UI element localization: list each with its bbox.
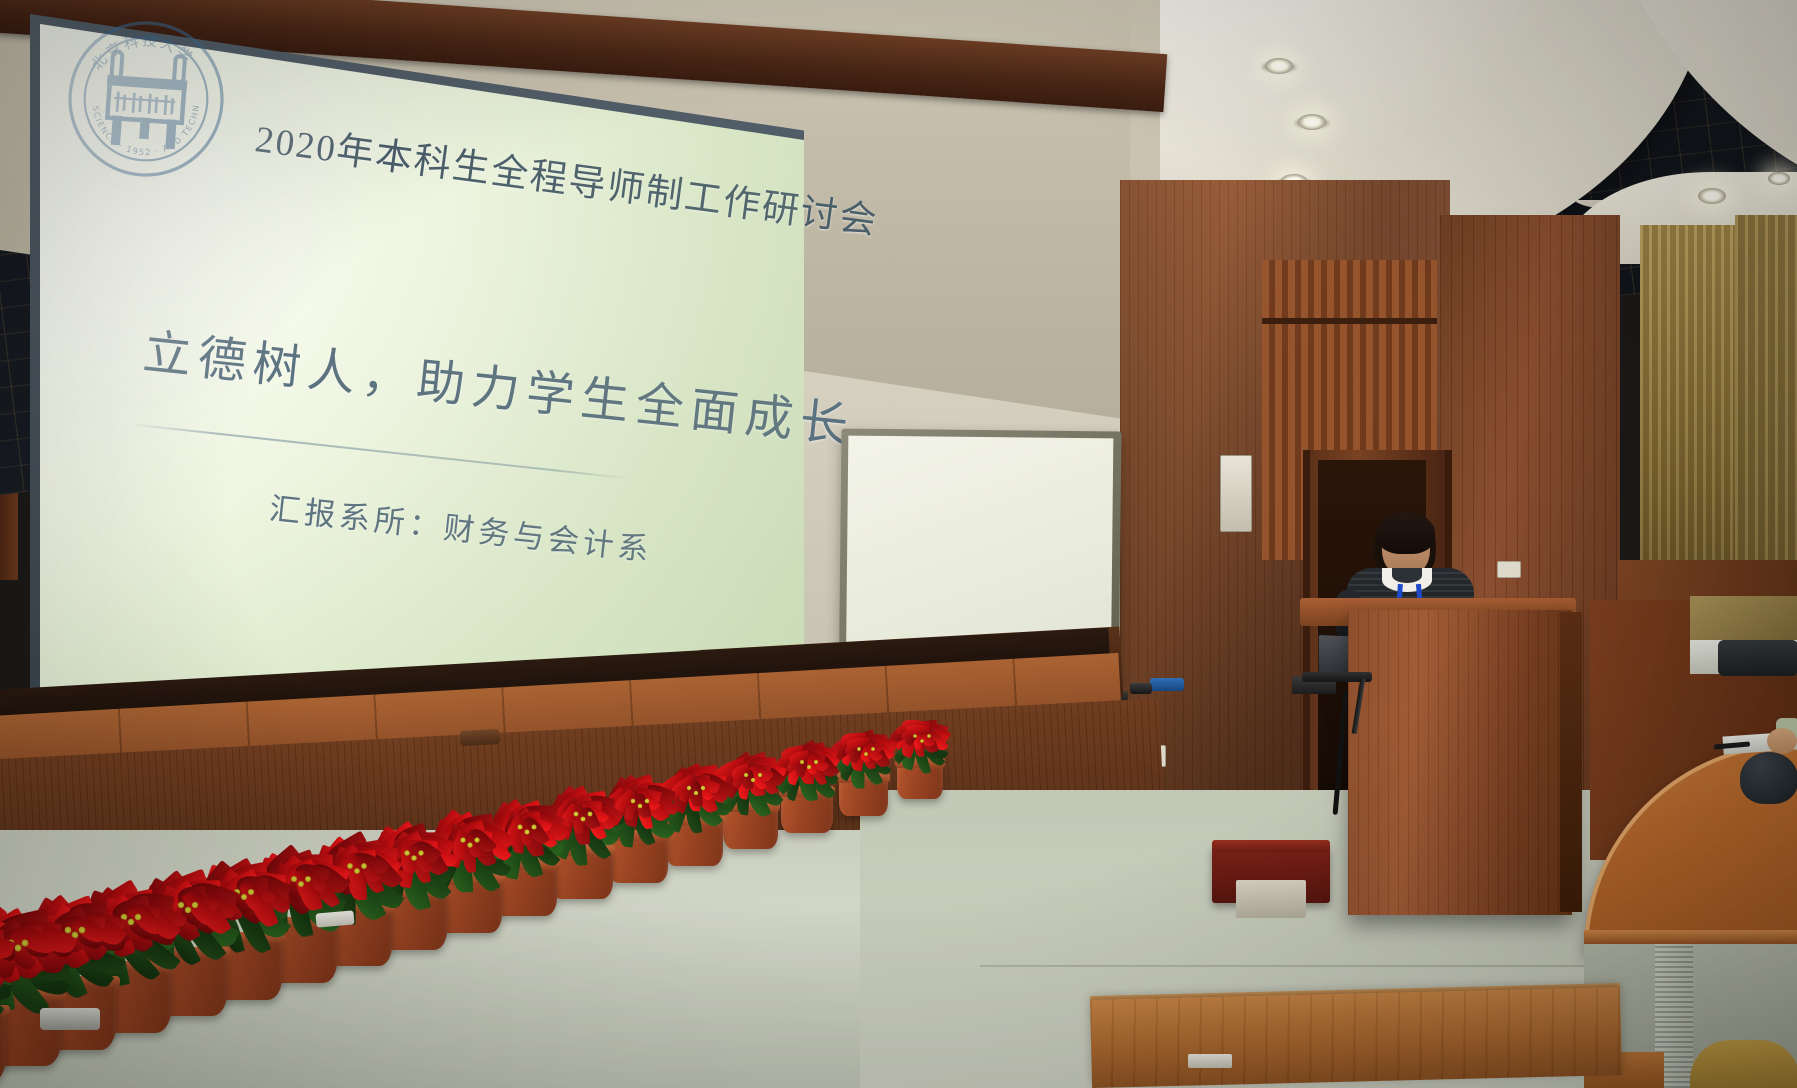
paper-on-table [1188,1054,1232,1068]
downlight-6 [1768,172,1790,185]
flower-center [871,747,875,751]
dark-bag-on-desk [1740,752,1797,804]
presenter-hair [1377,512,1435,554]
podium: 北京科技大学经济管理学院 School of Economics and Man… [1348,610,1572,915]
remote-device-2[interactable] [1130,683,1152,694]
rear-chair [1718,640,1797,676]
flower-center [857,747,861,751]
wall-speaker [1220,455,1252,532]
flower-center [750,778,754,782]
remote-device[interactable] [1150,678,1184,691]
stage-object [460,729,501,746]
rear-wall-upper [1690,596,1797,642]
red-case-lid [1212,840,1330,852]
seal-ustb-icon: 北京科技大学 SCIENCE · 1952 · AND TECHNOLOGY [61,13,232,186]
downlight-2 [1298,114,1326,130]
flower-center [757,773,761,777]
attendee-hand [1767,728,1797,754]
case-label-panel [1236,880,1306,918]
downlight-5 [1698,188,1726,204]
gold-chair-back [1690,1040,1797,1088]
podium-side-panel [1560,612,1582,912]
collar-gap [1392,568,1422,583]
downlight-1 [1265,58,1293,74]
metal-pot-liner [40,1008,100,1030]
wall-outlet [1497,561,1521,578]
flower-center [864,752,868,756]
flower-center [644,799,649,804]
foreground-table [1090,987,1622,1088]
wood-slat-divider [1262,318,1437,324]
lecture-hall-photo: 北京科技大学 SCIENCE · 1952 · AND TECHNOLOGY 2… [0,0,1797,1088]
